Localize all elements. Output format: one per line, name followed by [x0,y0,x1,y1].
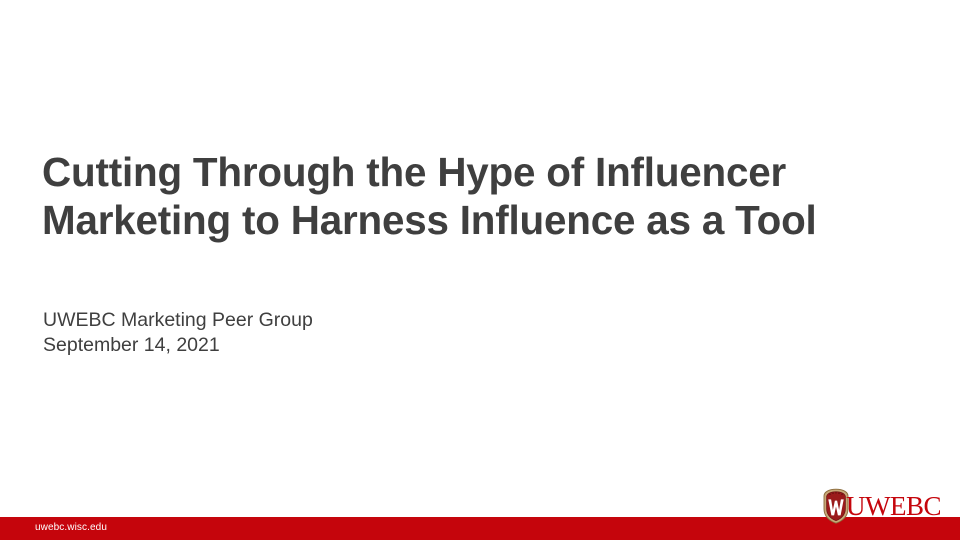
title-slide: Cutting Through the Hype of Influencer M… [0,0,960,540]
uwebc-wordmark: UWEBC [846,493,941,520]
subtitle-date: September 14, 2021 [43,333,743,358]
subtitle-organization: UWEBC Marketing Peer Group [43,308,743,333]
uwebc-logo: UWEBC [822,486,956,526]
title-line-1: Cutting Through the Hype of Influencer [42,148,909,196]
footer-url-text: uwebc.wisc.edu [35,521,107,535]
page-title: Cutting Through the Hype of Influencer M… [42,148,922,244]
footer-bar [0,517,960,540]
title-line-2: Marketing to Harness Influence as a Tool [42,196,909,244]
subtitle: UWEBC Marketing Peer Group September 14,… [43,308,743,358]
